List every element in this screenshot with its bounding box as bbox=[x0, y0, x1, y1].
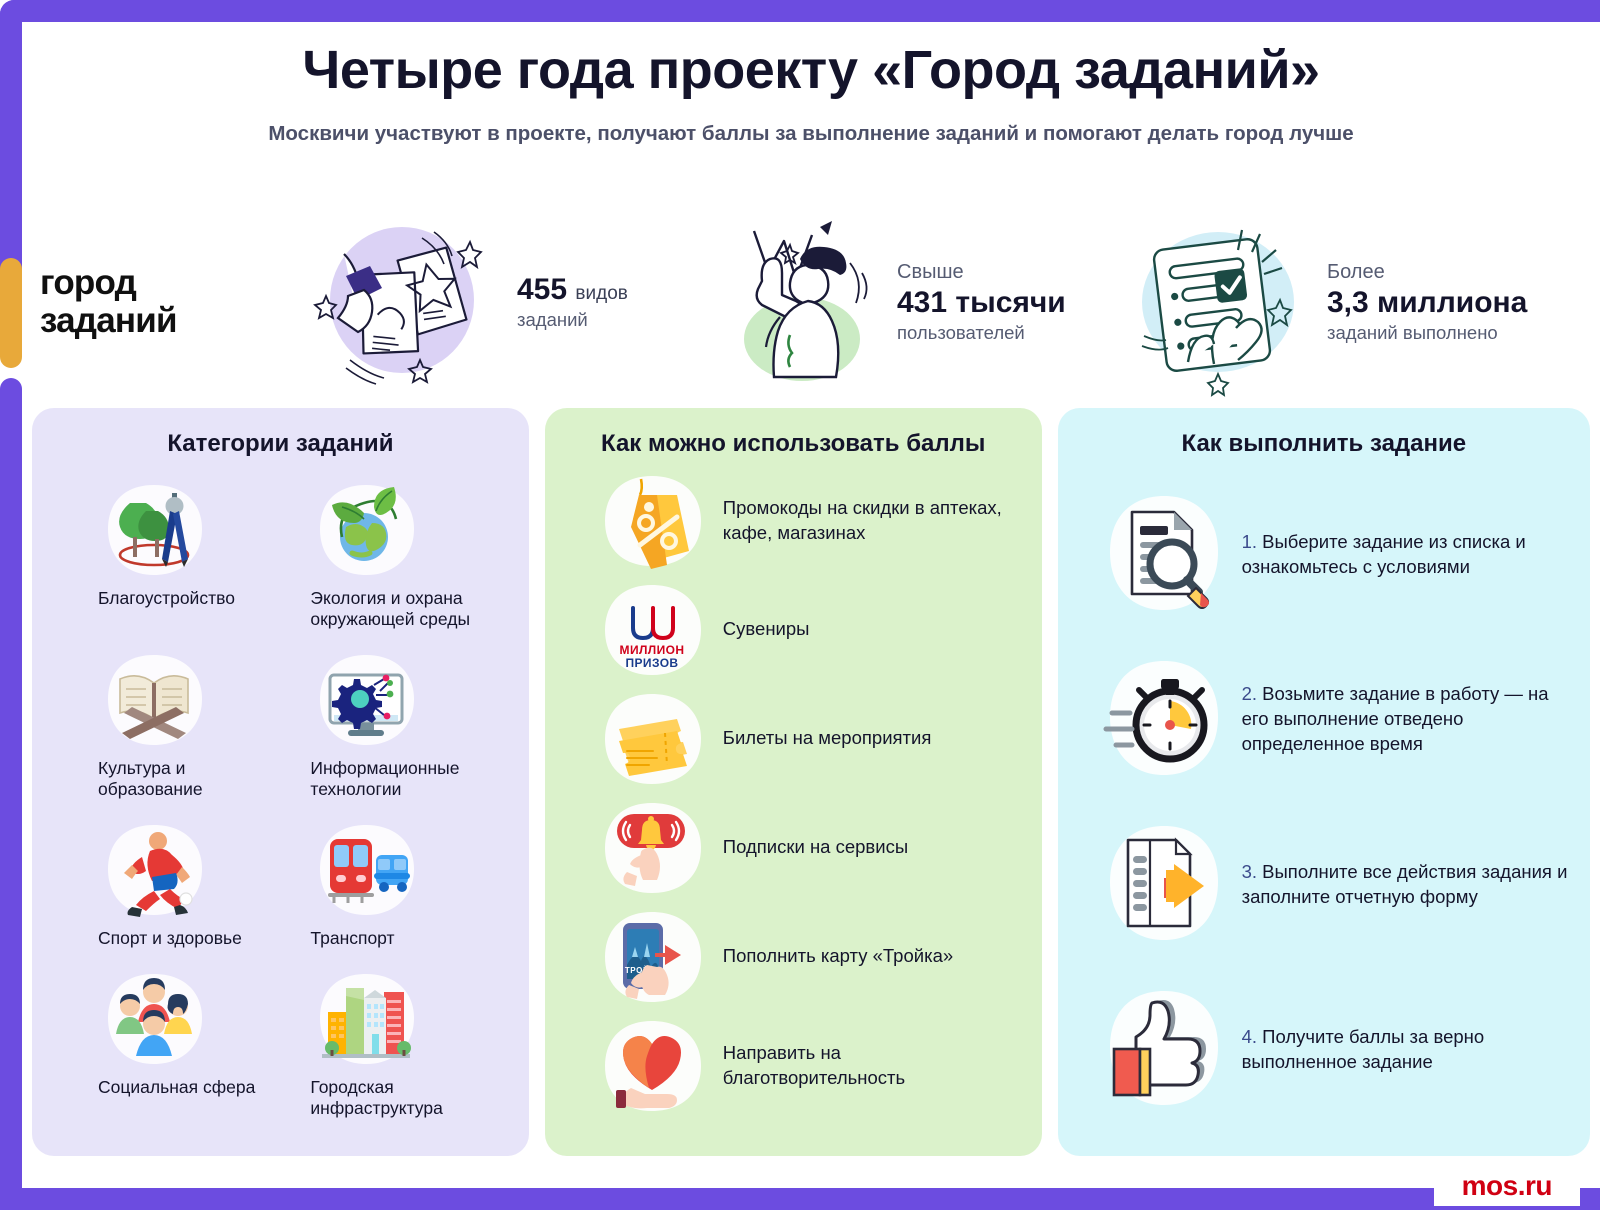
category-label: Экология и охрана окружающей среды bbox=[310, 588, 492, 630]
infographic-poster: Четыре года проекту «Город заданий» Моск… bbox=[0, 0, 1600, 1210]
points-usage-label: Направить на благотворительность bbox=[723, 1041, 1024, 1090]
step-number: 2. bbox=[1242, 683, 1257, 704]
category-item[interactable]: Городская инфраструктура bbox=[280, 967, 492, 1119]
points-usage-label: Пополнить карту «Тройка» bbox=[723, 944, 953, 968]
earth-leaves-icon bbox=[310, 478, 422, 582]
page-title: Четыре года проекту «Город заданий» bbox=[62, 40, 1560, 100]
step-item[interactable]: 1. Выберите задание из списка и ознакомь… bbox=[1076, 472, 1572, 637]
category-label: Благоустройство bbox=[98, 588, 235, 609]
category-label: Информационные технологии bbox=[310, 758, 492, 800]
points-usage-label: Билеты на мероприятия bbox=[723, 726, 932, 750]
points-usage-list: Промокоды на скидки в аптеках, кафе, маг… bbox=[563, 466, 1024, 1120]
points-usage-item[interactable]: МИЛЛИОН ПРИЗОВ Сувениры bbox=[563, 575, 1024, 684]
tickets-icon bbox=[593, 689, 711, 789]
points-usage-item[interactable]: Направить на благотворительность bbox=[563, 1011, 1024, 1120]
step-label: Выполните все действия задания и заполни… bbox=[1242, 861, 1568, 907]
city-buildings-icon bbox=[310, 967, 422, 1071]
mosru-badge[interactable]: mos.ru bbox=[1434, 1162, 1580, 1206]
form-arrow-icon bbox=[1094, 815, 1234, 955]
stat-completed-tasks: Более 3,3 миллиона заданий выполнено bbox=[1122, 216, 1562, 388]
million-prizes-logo-icon: МИЛЛИОН ПРИЗОВ bbox=[593, 580, 711, 680]
panels-row: Категории заданий bbox=[32, 408, 1590, 1156]
stat-task-types-text: 455 видов заданий bbox=[517, 272, 628, 331]
category-label: Социальная сфера bbox=[98, 1077, 255, 1098]
category-item[interactable]: Культура и образование bbox=[68, 648, 280, 800]
step-item[interactable]: 4. Получите баллы за верно выполненное з… bbox=[1076, 967, 1572, 1132]
category-item[interactable]: Информационные технологии bbox=[280, 648, 492, 800]
panel-categories: Категории заданий bbox=[32, 408, 529, 1156]
category-item[interactable]: Спорт и здоровье bbox=[68, 818, 280, 949]
stat-task-types-unit: видов bbox=[575, 283, 627, 304]
tablet-checkmark-icon bbox=[1122, 216, 1317, 388]
stat-completed-tasks-prefix: Более bbox=[1327, 260, 1527, 285]
person-pointing-up-icon bbox=[702, 217, 887, 387]
header: Четыре года проекту «Город заданий» Моск… bbox=[22, 22, 1600, 147]
category-label: Спорт и здоровье bbox=[98, 928, 242, 949]
project-logo: город заданий bbox=[22, 264, 302, 340]
stat-task-types-sub: заданий bbox=[517, 308, 628, 331]
points-usage-label: Сувениры bbox=[723, 617, 810, 641]
step-number: 3. bbox=[1242, 861, 1257, 882]
open-book-icon bbox=[98, 648, 210, 752]
step-number: 1. bbox=[1242, 531, 1257, 552]
frame-left-rail-orange-accent bbox=[0, 258, 22, 368]
train-bus-icon bbox=[310, 818, 422, 922]
panel-categories-title: Категории заданий bbox=[50, 430, 511, 458]
category-item[interactable]: Социальная сфера bbox=[68, 967, 280, 1119]
step-item[interactable]: 3. Выполните все действия задания и запо… bbox=[1076, 802, 1572, 967]
poster-content: Четыре года проекту «Город заданий» Моск… bbox=[22, 22, 1600, 1188]
svg-text:ПРИЗОВ: ПРИЗОВ bbox=[625, 656, 678, 670]
stats-strip: город заданий bbox=[22, 202, 1600, 402]
stat-users-prefix: Свыше bbox=[897, 260, 1066, 285]
troika-card-phone-icon: ТРОЙКА bbox=[593, 907, 711, 1007]
frame-left-rail-upper bbox=[0, 0, 22, 300]
frame-left-rail-lower bbox=[0, 378, 22, 1210]
heart-in-hand-icon bbox=[593, 1016, 711, 1116]
panel-steps: Как выполнить задание bbox=[1058, 408, 1590, 1156]
step-text: 2. Возьмите задание в работу — на его вы… bbox=[1242, 682, 1572, 757]
stat-users-value: 431 тысячи bbox=[897, 285, 1066, 321]
page-subtitle: Москвичи участвуют в проекте, получают б… bbox=[62, 122, 1560, 147]
svg-text:МИЛЛИОН: МИЛЛИОН bbox=[619, 643, 684, 657]
points-usage-label: Подписки на сервисы bbox=[723, 835, 908, 859]
stat-task-types-value: 455 bbox=[517, 273, 567, 306]
thumbs-up-icon bbox=[1094, 980, 1234, 1120]
category-item[interactable]: Благоустройство bbox=[68, 478, 280, 630]
stat-users-sub: пользователей bbox=[897, 321, 1066, 344]
panel-steps-title: Как выполнить задание bbox=[1076, 430, 1572, 458]
hand-with-cards-icon bbox=[302, 220, 507, 385]
stat-task-types: 455 видов заданий bbox=[302, 220, 702, 385]
stat-users: Свыше 431 тысячи пользователей bbox=[702, 217, 1122, 387]
points-usage-item[interactable]: Подписки на сервисы bbox=[563, 793, 1024, 902]
step-item[interactable]: 2. Возьмите задание в работу — на его вы… bbox=[1076, 637, 1572, 802]
points-usage-label: Промокоды на скидки в аптеках, кафе, маг… bbox=[723, 496, 1024, 545]
steps-list: 1. Выберите задание из списка и ознакомь… bbox=[1076, 472, 1572, 1132]
trees-compass-icon bbox=[98, 478, 210, 582]
step-label: Возьмите задание в работу — на его выпол… bbox=[1242, 683, 1549, 754]
step-label: Выберите задание из списка и ознакомьтес… bbox=[1242, 531, 1526, 577]
category-item[interactable]: Экология и охрана окружающей среды bbox=[280, 478, 492, 630]
step-text: 3. Выполните все действия задания и запо… bbox=[1242, 860, 1572, 910]
people-group-icon bbox=[98, 967, 210, 1071]
stat-completed-tasks-value: 3,3 миллиона bbox=[1327, 285, 1527, 321]
project-logo-line1: город bbox=[40, 264, 302, 302]
document-magnifier-icon bbox=[1094, 485, 1234, 625]
category-label: Культура и образование bbox=[98, 758, 280, 800]
categories-grid: Благоустройство bbox=[50, 478, 511, 1119]
category-label: Транспорт bbox=[310, 928, 394, 949]
stat-users-text: Свыше 431 тысячи пользователей bbox=[897, 260, 1066, 344]
step-text: 1. Выберите задание из списка и ознакомь… bbox=[1242, 530, 1572, 580]
points-usage-item[interactable]: ТРОЙКА Пополнить карту «Тройка» bbox=[563, 902, 1024, 1011]
step-label: Получите баллы за верно выполненное зада… bbox=[1242, 1026, 1485, 1072]
project-logo-line2: заданий bbox=[40, 302, 302, 340]
category-label: Городская инфраструктура bbox=[310, 1077, 492, 1119]
panel-points-usage: Как можно использовать баллы bbox=[545, 408, 1042, 1156]
step-number: 4. bbox=[1242, 1026, 1257, 1047]
stat-completed-tasks-sub: заданий выполнено bbox=[1327, 321, 1527, 344]
points-usage-item[interactable]: Промокоды на скидки в аптеках, кафе, маг… bbox=[563, 466, 1024, 575]
bell-subscription-icon bbox=[593, 798, 711, 898]
stat-completed-tasks-text: Более 3,3 миллиона заданий выполнено bbox=[1327, 260, 1527, 344]
frame-top-rail bbox=[0, 0, 1600, 22]
points-usage-item[interactable]: Билеты на мероприятия bbox=[563, 684, 1024, 793]
step-text: 4. Получите баллы за верно выполненное з… bbox=[1242, 1025, 1572, 1075]
stopwatch-icon bbox=[1094, 650, 1234, 790]
panel-points-usage-title: Как можно использовать баллы bbox=[563, 430, 1024, 458]
discount-tag-icon bbox=[593, 471, 711, 571]
football-player-icon bbox=[98, 818, 210, 922]
category-item[interactable]: Транспорт bbox=[280, 818, 492, 949]
monitor-gear-icon bbox=[310, 648, 422, 752]
frame-bottom-rail bbox=[0, 1188, 1600, 1210]
